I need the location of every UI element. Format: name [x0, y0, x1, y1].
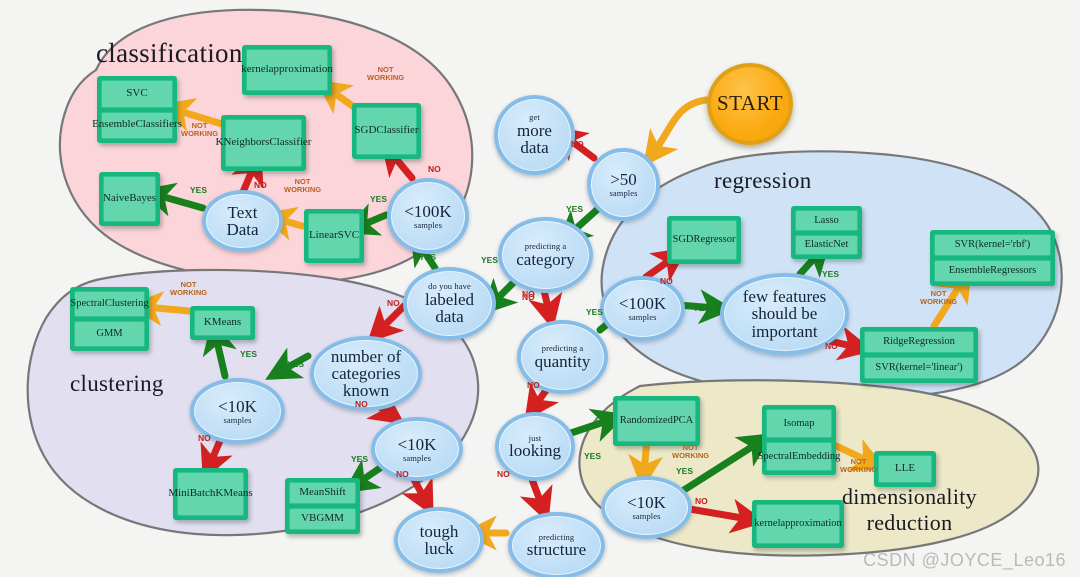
box-kernel-approx-dim-cell-0[interactable]: kernelapproximation: [756, 504, 840, 544]
edge-label-quantity-to-looking: NO: [527, 381, 540, 390]
node-text-data-label: Text: [228, 204, 258, 221]
edge-label-line: YES: [566, 205, 583, 214]
box-sgd-regressor[interactable]: SGDRegressor: [667, 216, 741, 264]
edge-label-line: WORKING: [170, 289, 207, 297]
edge-label-line: NO: [695, 497, 708, 506]
region-title-classification: classification: [96, 38, 243, 69]
box-svc-ensemble-text: Ensemble: [92, 119, 135, 131]
edge-label-sgdclf-to-kernelapprox: NOTWORKING: [367, 66, 404, 82]
node-dim-10k-label: <10K: [627, 494, 666, 511]
region-title-dimred: dimensionalityreduction: [842, 484, 977, 536]
edge-label-kmeans-to-spectral: NOTWORKING: [170, 281, 207, 297]
edge-label-gt50-to-category: YES: [566, 205, 583, 214]
edge-label-line: WORKING: [840, 466, 877, 474]
box-kernel-approx-dim-text: kernel: [754, 518, 780, 529]
box-isomap-spectral-text: Embedding: [792, 451, 840, 462]
box-isomap-spectral-text: Spectral: [758, 451, 792, 462]
node-clu-10k-b-samples: samples: [403, 454, 431, 463]
region-title-line: classification: [96, 38, 243, 69]
edge-label-fewfeat-to-ridge: NO: [825, 342, 838, 351]
box-ridge-svr-linear-text: SVR(kernel='linear'): [875, 362, 962, 373]
edge-label-numcat-to-clu10ka: YES: [287, 360, 304, 369]
edge-label-clu10ka-to-minibatch: NO: [198, 434, 211, 443]
box-linear-svc-cell-0[interactable]: LinearSVC: [308, 213, 360, 259]
box-isomap-spectral-cell-1[interactable]: SpectralEmbedding: [766, 442, 832, 471]
box-ridge-svr-linear-cell-1[interactable]: SVR(kernel='linear'): [864, 357, 974, 379]
box-svr-rbf-ensemble[interactable]: SVR(kernel='rbf')EnsembleRegressors: [930, 230, 1055, 286]
node-gt50[interactable]: >50samples: [587, 148, 660, 221]
box-sgd-classifier[interactable]: SGDClassifier: [352, 103, 421, 159]
region-title-line: regression: [714, 168, 812, 194]
node-cat-label: category: [516, 251, 575, 268]
edge-label-isomap-to-lle: NOTWORKING: [840, 458, 877, 474]
watermark: CSDN @JOYCE_Leo16: [863, 550, 1066, 571]
box-svc-ensemble-cell-1[interactable]: EnsembleClassifiers: [101, 112, 173, 140]
box-sgd-regressor-cell-0[interactable]: SGDRegressor: [671, 220, 737, 260]
edge-label-line: YES: [586, 308, 603, 317]
node-gt50-samples: samples: [609, 189, 637, 198]
box-kneighbors[interactable]: KNeighborsClassifier: [221, 115, 306, 171]
box-kernel-approx-clf-text: kernel: [241, 64, 268, 76]
box-isomap-spectral-cell-0[interactable]: Isomap: [766, 409, 832, 438]
box-svc-ensemble[interactable]: SVCEnsembleClassifiers: [97, 76, 177, 143]
node-cat[interactable]: predicting acategory: [498, 217, 593, 293]
box-linear-svc-text: Linear: [309, 230, 338, 242]
node-few-features-label: important: [751, 323, 817, 340]
node-dim-10k[interactable]: <10Ksamples: [601, 476, 692, 539]
node-few-features-label: few features: [743, 288, 827, 305]
edge-label-kneighbors-to-svc: NOTWORKING: [181, 122, 218, 138]
edge-label-line: NO: [522, 293, 535, 302]
box-spectral-gmm-cell-1[interactable]: GMM: [74, 321, 145, 347]
box-spectral-gmm-text: Spectral: [70, 298, 104, 309]
edge-label-clf100k-to-sgdclf: NO: [428, 165, 441, 174]
box-lasso-elastic-text: ElasticNet: [805, 239, 849, 250]
region-title-regression: regression: [714, 168, 812, 194]
node-clf-100k-label: <100K: [404, 203, 451, 220]
edge-label-line: NO: [660, 277, 673, 286]
edge-label-ridge-to-svrrbf: NOTWORKING: [920, 290, 957, 306]
box-kernel-approx-dim-text: approximation: [781, 518, 842, 529]
box-meanshift-vbgmm-text: VBGMM: [301, 513, 344, 525]
edge-label-line: NO: [387, 299, 400, 308]
box-kernel-approx-clf-cell-0[interactable]: kernelapproximation: [246, 49, 328, 91]
edge-label-labeled-to-numcat: NO: [387, 299, 400, 308]
edge-label-line: NO: [825, 342, 838, 351]
node-more-data-label: data: [520, 139, 548, 156]
box-kneighbors-text: KNeighbors: [216, 137, 270, 149]
edge-label-line: NO: [428, 165, 441, 174]
edge-label-looking-to-structure: NO: [497, 470, 510, 479]
edge-label-line: WORKING: [672, 452, 709, 460]
box-sgd-classifier-text: Classifier: [376, 125, 418, 137]
region-title-clustering: clustering: [70, 371, 164, 397]
box-sgd-regressor-text: SGD: [673, 234, 694, 245]
box-ridge-svr-linear-text: RidgeRegression: [883, 336, 955, 347]
box-svc-ensemble-text: Classifiers: [135, 119, 181, 131]
edge-label-category-to-clf100k: YES: [481, 256, 498, 265]
edge-label-line: NO: [198, 434, 211, 443]
region-title-line: dimensionality: [842, 484, 977, 510]
node-num-cat-label: known: [343, 382, 389, 399]
edge-label-fewfeat-to-lasso: YES: [822, 270, 839, 279]
box-minibatch-kmeans[interactable]: MiniBatchKMeans: [173, 468, 248, 520]
edge-label-reg100k-to-fewfeat: YES: [693, 304, 710, 313]
box-minibatch-kmeans-cell-0[interactable]: MiniBatchKMeans: [177, 472, 244, 516]
node-labeled-data-label: data: [435, 308, 463, 325]
box-lasso-elastic-cell-0[interactable]: Lasso: [795, 210, 858, 231]
edge-label-line: NO: [396, 470, 409, 479]
edge-label-textdata-to-naive: YES: [190, 186, 207, 195]
box-svr-rbf-ensemble-cell-0[interactable]: SVR(kernel='rbf'): [934, 234, 1051, 256]
node-clu-10k-a-label: <10K: [218, 398, 257, 415]
node-labeled-data-label: labeled: [425, 291, 474, 308]
box-randomized-pca-text: PCA: [673, 415, 693, 426]
node-reg-100k-samples: samples: [628, 313, 656, 322]
edge-label-line: YES: [481, 256, 498, 265]
box-spectral-gmm-cell-0[interactable]: SpectralClustering: [74, 291, 145, 317]
edge-label-pca-to-dim10k: NOTWORKING: [672, 444, 709, 460]
edge-label-line: YES: [351, 455, 368, 464]
edge-label-line: YES: [240, 350, 257, 359]
edge-label-line: YES: [676, 467, 693, 476]
node-more-data[interactable]: getmoredata: [494, 95, 575, 175]
box-meanshift-vbgmm[interactable]: MeanShiftVBGMM: [285, 478, 360, 534]
edge-label-line: WORKING: [920, 298, 957, 306]
node-looking-label: looking: [509, 442, 561, 459]
edge-label-clu10ka-to-kmeans: YES: [240, 350, 257, 359]
box-spectral-gmm-text: GMM: [96, 328, 122, 339]
box-naive-bayes-cell-0[interactable]: NaiveBayes: [103, 176, 156, 222]
node-structure[interactable]: predictingstructure: [508, 512, 605, 577]
node-more-data-label: more: [517, 122, 552, 139]
node-quantity-label: quantity: [535, 353, 591, 370]
edge-label-linearsvc-to-textdata: NOTWORKING: [284, 178, 321, 194]
node-num-cat-label: categories: [332, 365, 401, 382]
box-spectral-gmm-text: Clustering: [105, 298, 149, 309]
node-num-cat-label: number of: [331, 348, 401, 365]
box-linear-svc-text: SVC: [338, 230, 359, 242]
edge-label-dim10k-to-isomap: YES: [676, 467, 693, 476]
edge-label-line: NO: [527, 381, 540, 390]
edge-label-line: WORKING: [181, 130, 218, 138]
node-tough-luck-label: tough: [420, 523, 459, 540]
box-lle[interactable]: LLE: [874, 451, 936, 487]
box-svr-rbf-ensemble-text: EnsembleRegressors: [949, 265, 1036, 276]
box-lasso-elastic-cell-1[interactable]: ElasticNet: [795, 235, 858, 256]
edge-label-clu10kb-to-meanshift: YES: [351, 455, 368, 464]
node-reg-100k-label: <100K: [619, 295, 666, 312]
node-clf-100k-samples: samples: [414, 221, 442, 230]
box-meanshift-vbgmm-cell-1[interactable]: VBGMM: [289, 508, 356, 530]
edge-label-reg100k-to-sgdreg: NO: [660, 277, 673, 286]
box-lle-cell-0[interactable]: LLE: [878, 455, 932, 483]
edge-label-textdata-to-kneighbors: NO: [254, 181, 267, 190]
box-meanshift-vbgmm-text: MeanShift: [299, 487, 345, 499]
node-tough-luck-label: luck: [424, 540, 453, 557]
edge-label-line: YES: [370, 195, 387, 204]
node-text-data-label: Data: [226, 221, 258, 238]
node-gt50-label: >50: [610, 171, 637, 188]
region-title-line: reduction: [842, 510, 977, 536]
node-tough-luck[interactable]: toughluck: [394, 507, 484, 573]
edge-label-labeled-to-clf100k: YES: [419, 253, 436, 262]
box-kmeans-cell-0[interactable]: KMeans: [194, 310, 251, 336]
node-clu-10k-b-label: <10K: [398, 436, 437, 453]
node-clu-10k-a-samples: samples: [223, 416, 251, 425]
box-naive-bayes-text: Naive: [103, 193, 129, 205]
box-kneighbors-text: Classifier: [269, 137, 311, 149]
cheatsheet-canvas: classificationregressionclusteringdimens…: [0, 0, 1080, 577]
edge-label-category-to-quantity: NO: [522, 293, 535, 302]
box-sgd-classifier-text: SGD: [354, 125, 376, 137]
edge-label-dim10k-to-kernelapprox: NO: [695, 497, 708, 506]
node-few-features-label: should be: [752, 305, 818, 322]
edge-label-line: YES: [584, 452, 601, 461]
edge-label-line: NO: [355, 400, 368, 409]
edge-label-quantity-to-reg100k: YES: [586, 308, 603, 317]
box-sgd-classifier-cell-0[interactable]: SGDClassifier: [356, 107, 417, 155]
edge-label-line: YES: [693, 304, 710, 313]
box-svc-ensemble-cell-0[interactable]: SVC: [101, 80, 173, 108]
node-clu-10k-b[interactable]: <10Ksamples: [371, 417, 463, 481]
box-kernel-approx-clf-text: approximation: [269, 64, 333, 76]
box-randomized-pca-cell-0[interactable]: RandomizedPCA: [617, 400, 696, 442]
box-kmeans-text: KMeans: [204, 317, 241, 329]
edge-label-gt50-to-more-data: NO: [571, 140, 584, 149]
box-randomized-pca-text: Randomized: [620, 415, 673, 426]
edge-label-line: NO: [571, 140, 584, 149]
edge-label-line: WORKING: [367, 74, 404, 82]
box-meanshift-vbgmm-cell-0[interactable]: MeanShift: [289, 482, 356, 504]
box-kernel-approx-clf[interactable]: kernelapproximation: [242, 45, 332, 95]
edge-label-line: YES: [822, 270, 839, 279]
box-linear-svc[interactable]: LinearSVC: [304, 209, 364, 263]
node-start-label: START: [717, 93, 783, 114]
edge-label-line: NO: [254, 181, 267, 190]
edge-label-line: WORKING: [284, 186, 321, 194]
region-title-line: clustering: [70, 371, 164, 397]
box-kneighbors-cell-0[interactable]: KNeighborsClassifier: [225, 119, 302, 167]
box-lasso-elastic[interactable]: LassoElasticNet: [791, 206, 862, 259]
node-clf-100k[interactable]: <100Ksamples: [387, 178, 469, 254]
box-ridge-svr-linear-cell-0[interactable]: RidgeRegression: [864, 331, 974, 353]
box-svr-rbf-ensemble-cell-1[interactable]: EnsembleRegressors: [934, 260, 1051, 282]
node-structure-label: structure: [527, 541, 586, 558]
edge-label-line: YES: [190, 186, 207, 195]
box-minibatch-kmeans-text: MiniBatch: [168, 488, 215, 500]
box-kernel-approx-dim[interactable]: kernelapproximation: [752, 500, 844, 548]
edge-label-line: YES: [419, 253, 436, 262]
box-lasso-elastic-text: Lasso: [814, 215, 839, 226]
box-randomized-pca[interactable]: RandomizedPCA: [613, 396, 700, 446]
edge-label-clu10kb-to-tough: NO: [396, 470, 409, 479]
box-isomap-spectral-text: Isomap: [784, 418, 815, 429]
box-lle-text: LLE: [895, 463, 915, 475]
box-svc-ensemble-text: SVC: [126, 88, 147, 100]
box-spectral-gmm[interactable]: SpectralClusteringGMM: [70, 287, 149, 351]
edge-label-looking-to-pca: YES: [584, 452, 601, 461]
edge-label-clf100k-to-linearsvc: YES: [370, 195, 387, 204]
box-sgd-regressor-text: Regressor: [694, 234, 736, 245]
box-minibatch-kmeans-text: KMeans: [215, 488, 252, 500]
edge-label-numcat-to-clu10kb: NO: [355, 400, 368, 409]
nodes-layer: classificationregressionclusteringdimens…: [0, 0, 1080, 577]
edge-label-line: NO: [497, 470, 510, 479]
box-naive-bayes[interactable]: NaiveBayes: [99, 172, 160, 226]
box-isomap-spectral[interactable]: IsomapSpectralEmbedding: [762, 405, 836, 475]
box-ridge-svr-linear[interactable]: RidgeRegressionSVR(kernel='linear'): [860, 327, 978, 383]
node-start[interactable]: START: [707, 63, 793, 145]
node-labeled-data[interactable]: do you havelabeleddata: [403, 267, 496, 340]
box-svr-rbf-ensemble-text: SVR(kernel='rbf'): [955, 239, 1031, 250]
box-naive-bayes-text: Bayes: [129, 193, 156, 205]
node-text-data[interactable]: TextData: [202, 190, 283, 252]
edge-label-line: YES: [287, 360, 304, 369]
box-kmeans[interactable]: KMeans: [190, 306, 255, 340]
node-dim-10k-samples: samples: [632, 512, 660, 521]
